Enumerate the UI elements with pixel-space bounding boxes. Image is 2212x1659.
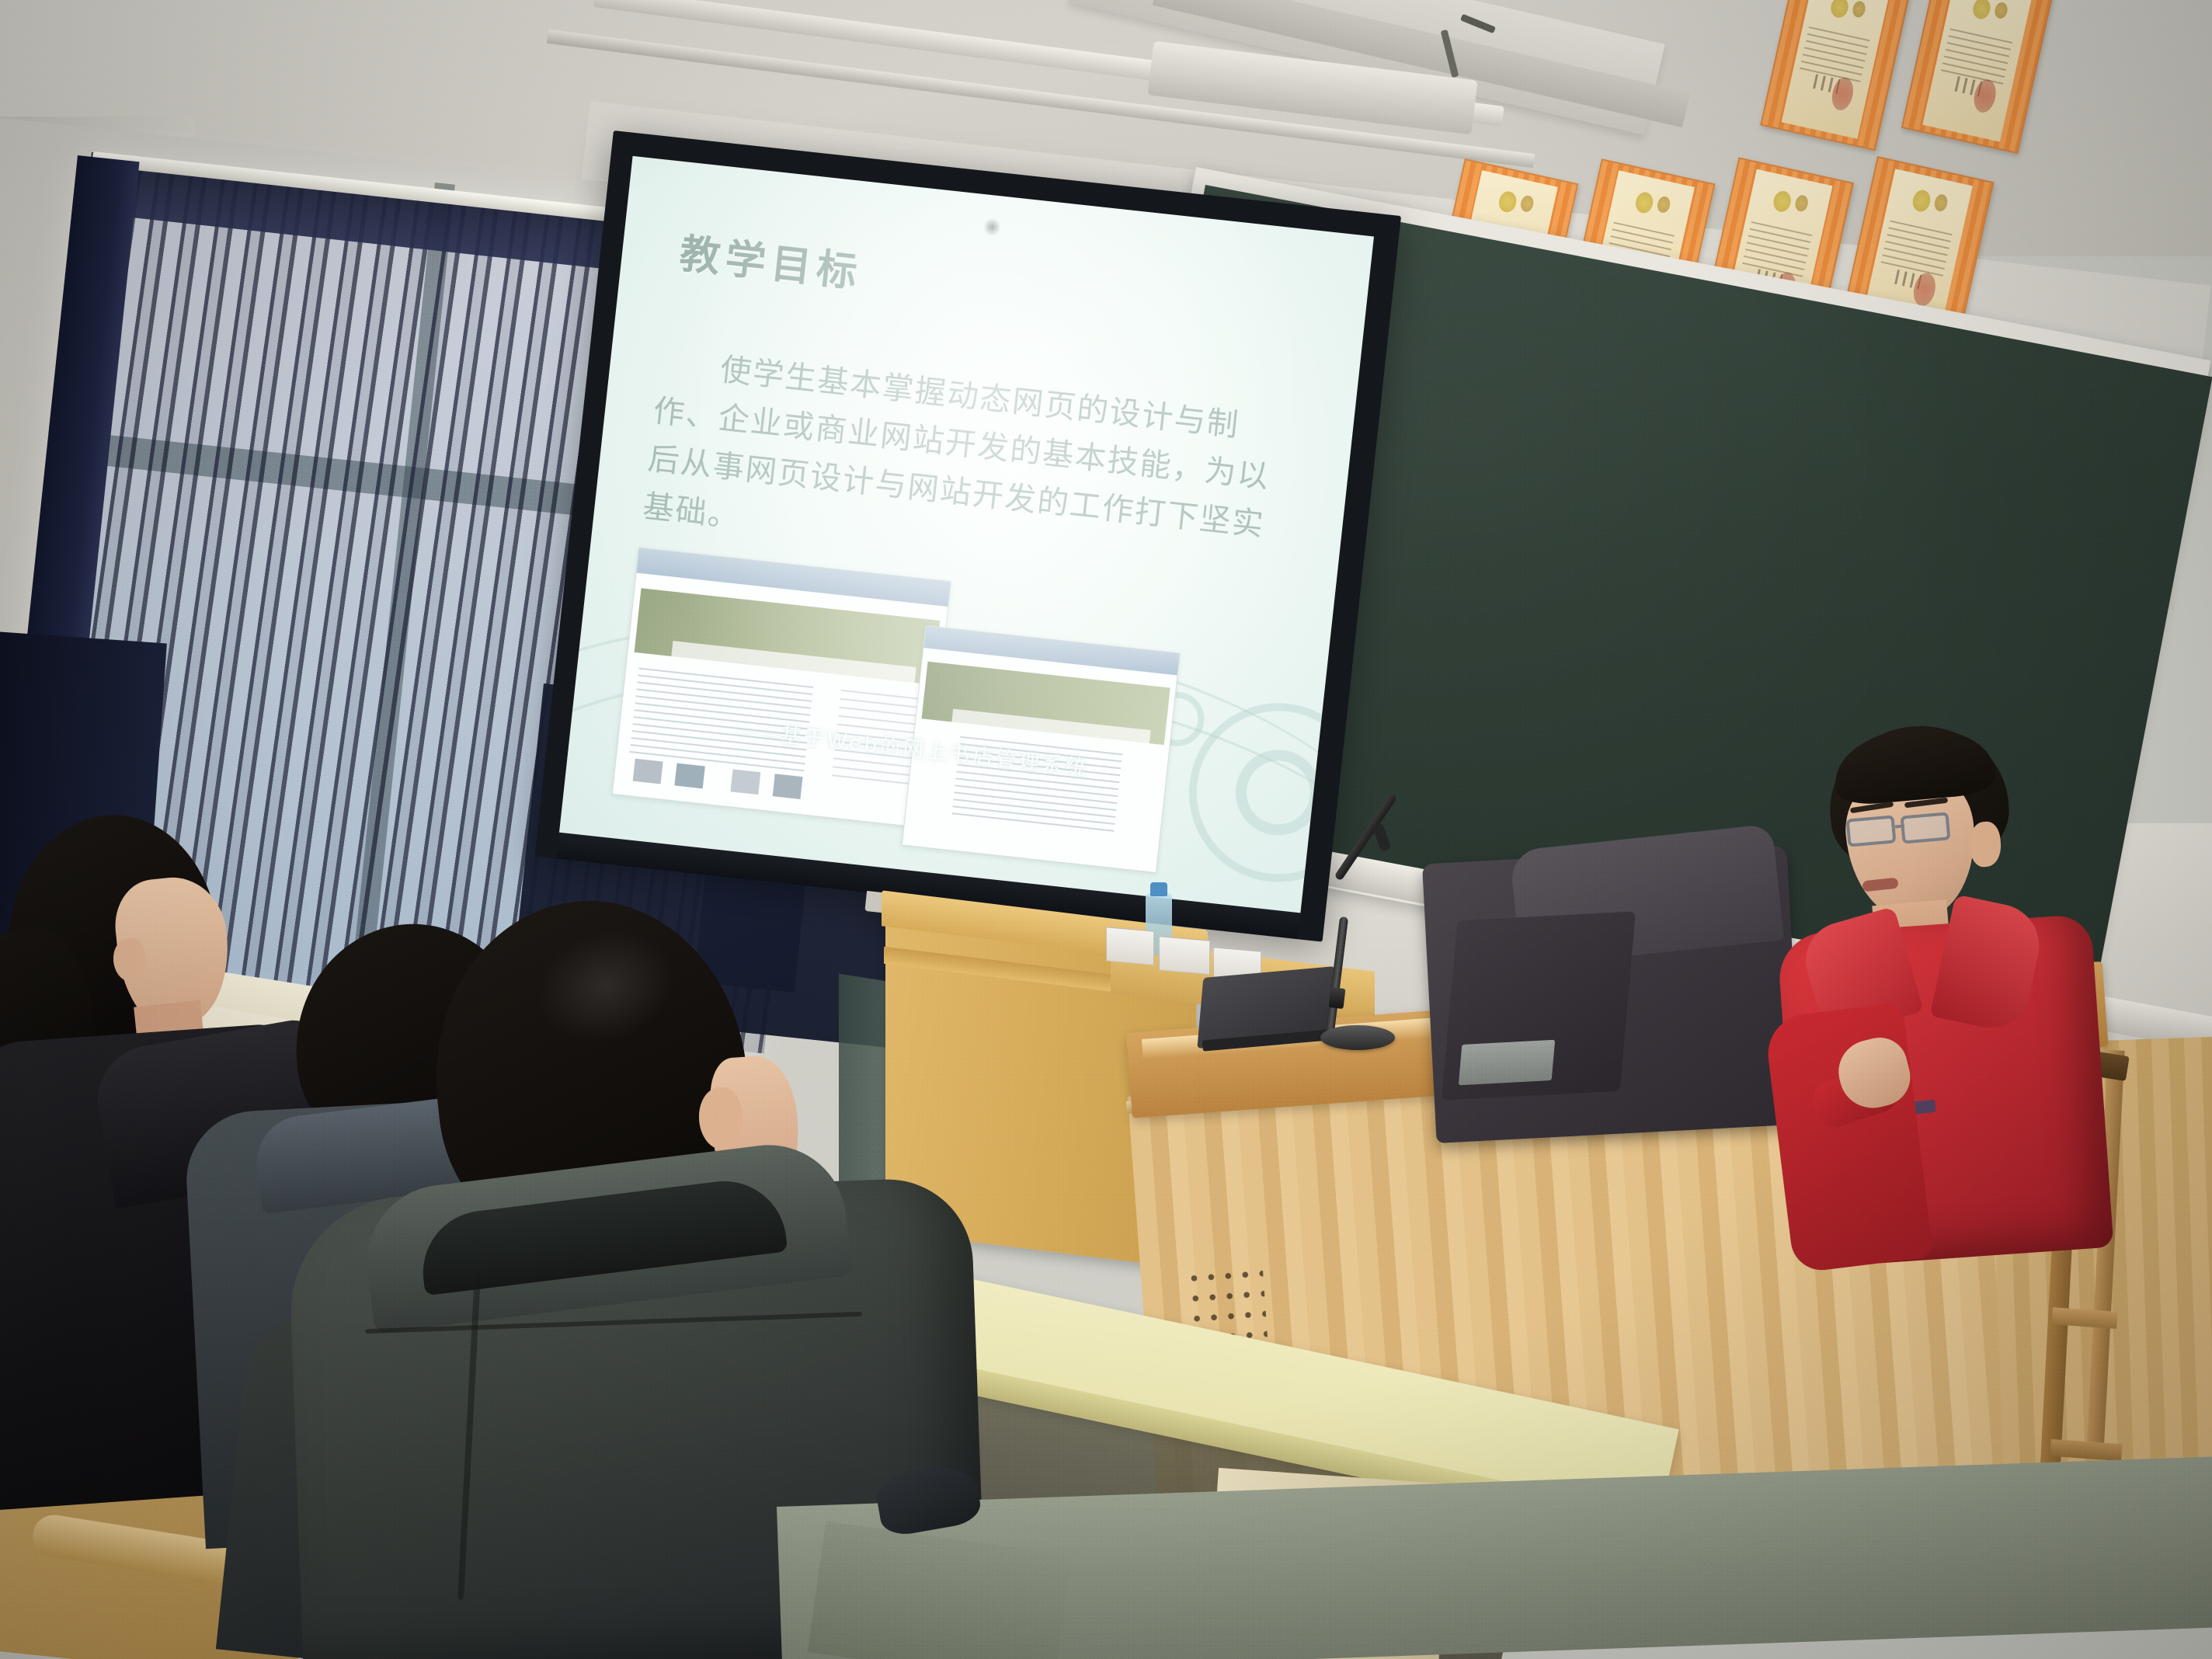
chalk-box-2[interactable]: [1159, 936, 1210, 975]
water-bottle-cap: [1150, 882, 1167, 896]
microphone-base[interactable]: [1320, 1025, 1395, 1050]
projection-screen: 教学目标 使学生基本掌握动态网页的设计与制作、企业或商业网站开发的基本技能，为以…: [534, 130, 1401, 942]
glasses-lens-left-icon: [1846, 815, 1897, 847]
microphone-collar: [1328, 987, 1345, 1009]
crt-monitor-label: [1459, 1040, 1555, 1086]
classroom-photo-scene: 教学目标 使学生基本掌握动态网页的设计与制作、企业或商业网站开发的基本技能，为以…: [0, 0, 2212, 1659]
award-certificate-5: [1760, 0, 1911, 151]
slide-title: 教学目标: [677, 221, 866, 298]
glasses-lens-right-icon: [1901, 812, 1951, 843]
website-screenshot-left: [612, 548, 951, 829]
chalk-box-1[interactable]: [1106, 927, 1154, 965]
award-certificate-6: [1901, 0, 2054, 154]
projection-screen-surface: 教学目标 使学生基本掌握动态网页的设计与制作、企业或商业网站开发的基本技能，为以…: [559, 156, 1374, 916]
projector-hotspot: [983, 216, 1001, 238]
